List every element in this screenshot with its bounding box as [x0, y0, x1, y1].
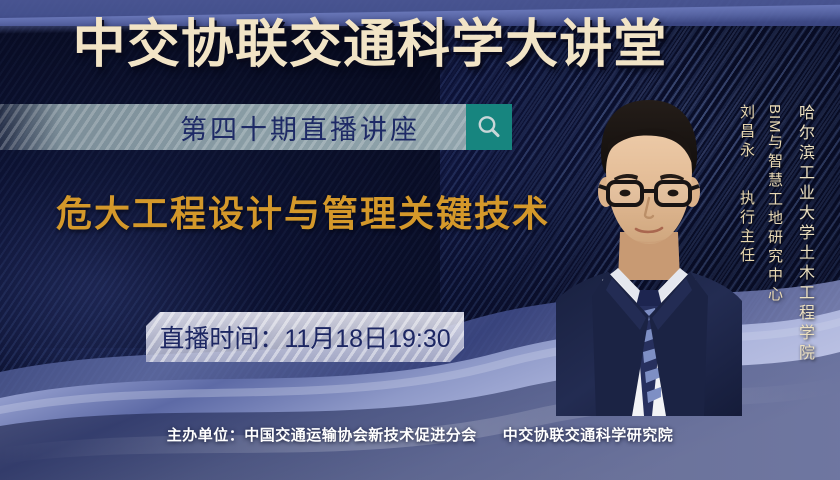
footer-organizer-2: 中交协联交通科学研究院 — [503, 427, 674, 444]
speaker-research-center-rest: 与智慧工地研究中心 — [766, 134, 783, 305]
footer-prefix: 主办单位： — [167, 427, 245, 444]
speaker-role: 执行主任 — [736, 190, 757, 266]
speaker-name: 刘昌永 — [736, 104, 757, 161]
live-time-label: 直播时间：11月18日19:30 — [146, 312, 464, 362]
speaker-research-center-latin: BIM — [766, 104, 783, 134]
search-button[interactable] — [466, 104, 512, 150]
page-title: 中交协联交通科学大讲堂 — [0, 14, 747, 76]
footer-organizers: 主办单位：中国交通运输协会新技术促进分会中交协联交通科学研究院 — [0, 424, 840, 445]
lecture-topic: 危大工程设计与管理关键技术 — [56, 190, 550, 238]
webinar-poster: 中交协联交通科学大讲堂 第四十期直播讲座 危大工程设计与管理关键技术 直播时间：… — [0, 0, 840, 480]
speaker-research-center: BIM与智慧工地研究中心 — [764, 104, 787, 305]
subtitle-text: 第四十期直播讲座 — [180, 104, 420, 150]
footer-organizer-1: 中国交通运输协会新技术促进分会 — [244, 427, 477, 444]
speaker-portrait — [556, 84, 742, 416]
search-icon — [476, 114, 502, 140]
speaker-school: 哈尔滨工业大学土木工程学院 — [792, 104, 816, 364]
